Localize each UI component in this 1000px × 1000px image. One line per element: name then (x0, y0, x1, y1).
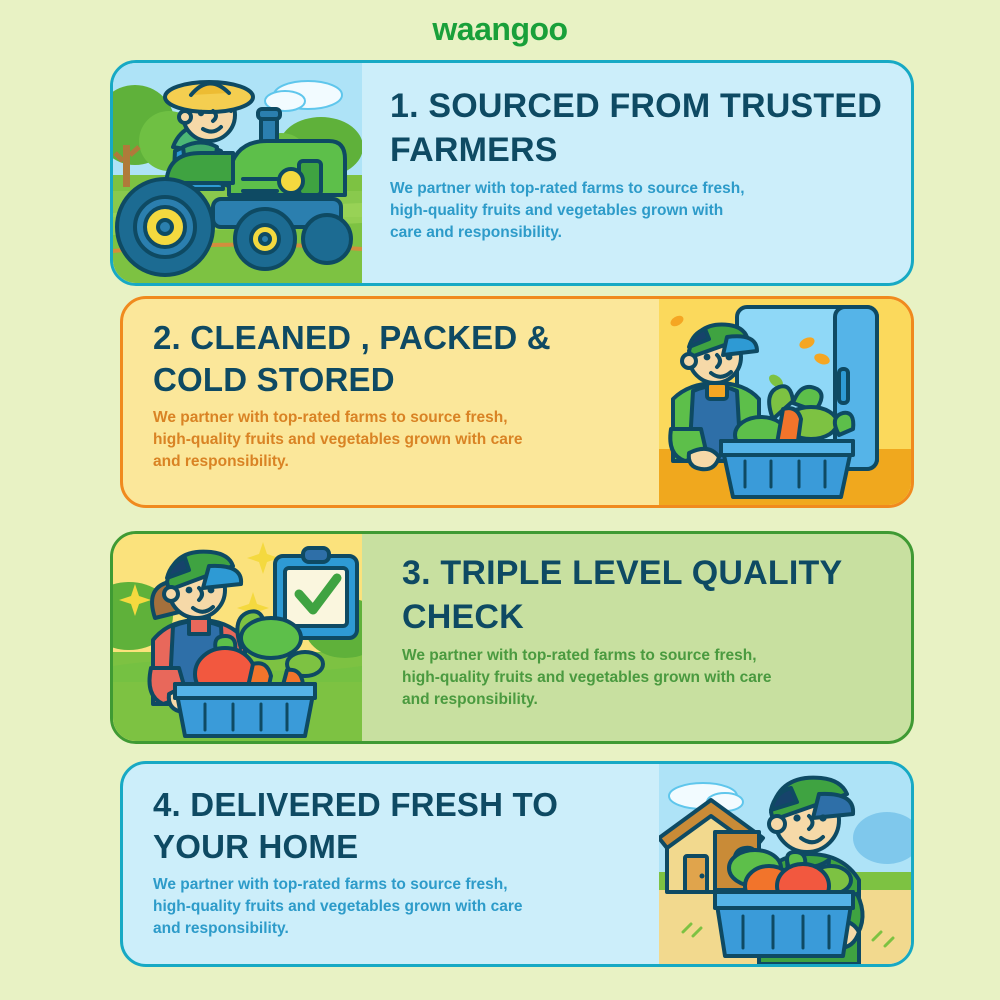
card-3-body: We partner with top-rated farms to sourc… (402, 645, 887, 711)
brand-logo: waangoo (432, 11, 567, 48)
home-delivery-scene-svg (659, 764, 911, 964)
quality-check-scene-svg (113, 534, 362, 741)
illustration-delivery-man-with-crate-at-house (659, 764, 911, 964)
card-4-body: We partner with top-rated farms to sourc… (153, 874, 635, 940)
step-card-3: 3. TRIPLE LEVEL QUALITY CHECK We partner… (110, 531, 914, 744)
illustration-worker-with-crate-at-refrigerator (659, 299, 911, 505)
step-card-2: 2. CLEANED , PACKED & COLD STORED We par… (120, 296, 914, 508)
step-card-1: 1. SOURCED FROM TRUSTED FARMERS We partn… (110, 60, 914, 286)
card-2-text-panel: 2. CLEANED , PACKED & COLD STORED We par… (123, 299, 659, 505)
card-1-body: We partner with top-rated farms to sourc… (390, 178, 887, 244)
cold-storage-scene-svg (659, 299, 911, 505)
card-4-title: 4. DELIVERED FRESH TO YOUR HOME (153, 784, 635, 868)
card-2-title: 2. CLEANED , PACKED & COLD STORED (153, 317, 635, 401)
brand-header: waangoo (0, 0, 1000, 58)
card-3-title: 3. TRIPLE LEVEL QUALITY CHECK (402, 552, 887, 639)
step-card-4: 4. DELIVERED FRESH TO YOUR HOME We partn… (120, 761, 914, 967)
card-2-body: We partner with top-rated farms to sourc… (153, 407, 635, 473)
tractor-scene-svg (113, 63, 362, 283)
card-3-text-panel: 3. TRIPLE LEVEL QUALITY CHECK We partner… (362, 534, 911, 741)
illustration-farmer-with-crate-and-checklist (113, 534, 362, 741)
card-1-title: 1. SOURCED FROM TRUSTED FARMERS (390, 85, 887, 172)
card-1-text-panel: 1. SOURCED FROM TRUSTED FARMERS We partn… (362, 63, 911, 283)
card-4-text-panel: 4. DELIVERED FRESH TO YOUR HOME We partn… (123, 764, 659, 964)
illustration-farmer-driving-tractor (113, 63, 362, 283)
